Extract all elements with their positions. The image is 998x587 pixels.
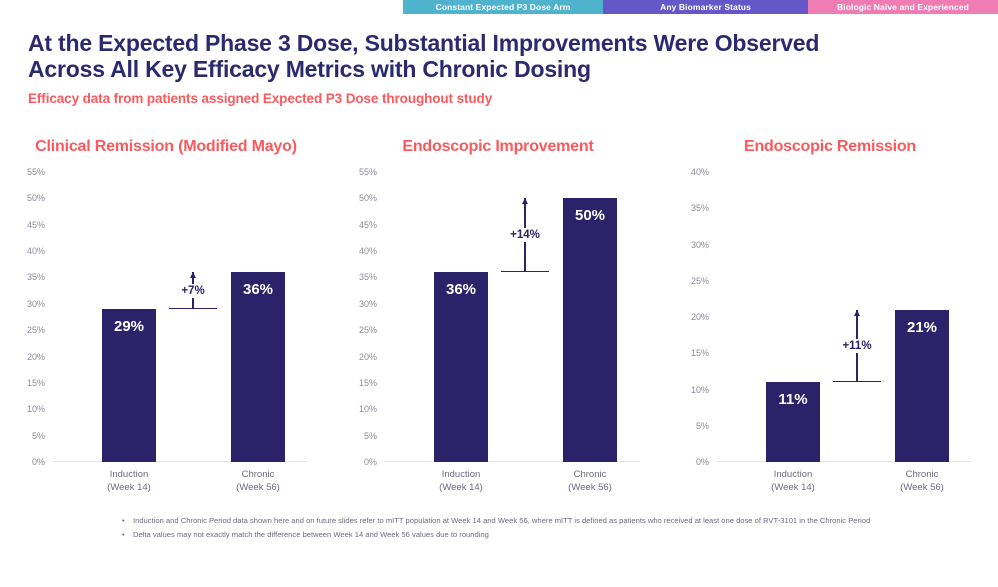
page-title-line-2: Across All Key Efficacy Metrics with Chr… [28,56,958,82]
footnote-text: Induction and Chronic Period data shown … [133,515,870,527]
y-axis-tick-label: 20% [691,312,709,322]
delta-indicator: +14% [485,198,565,272]
y-axis-tick-label: 25% [691,276,709,286]
delta-indicator: +11% [817,310,897,383]
bar: 36% [231,272,285,462]
y-axis-tick-label: 40% [27,246,45,256]
y-axis-tick-label: 15% [27,378,45,388]
x-axis-category-line: (Week 14) [69,481,189,494]
y-axis-tick-label: 50% [27,193,45,203]
bar: 50% [563,198,617,462]
chart-panel-2: Endoscopic Improvement0%5%10%15%20%25%30… [332,132,664,502]
bar: 11% [766,382,820,462]
arrow-up-icon [522,198,528,204]
banner-segment-biologic-status: Biologic Naïve and Experienced [808,0,998,14]
banner-segment-dose-arm: Constant Expected P3 Dose Arm [403,0,603,14]
plot-area: 0%5%10%15%20%25%30%35%40%45%50%55%29%Ind… [52,172,308,462]
delta-value-label: +14% [507,228,543,242]
bar-value-label: 11% [766,391,820,408]
y-axis-tick-label: 20% [27,352,45,362]
bar-value-label: 36% [231,281,285,298]
y-axis-tick-label: 5% [364,431,377,441]
y-axis-tick-label: 35% [691,203,709,213]
y-axis-tick-label: 30% [27,299,45,309]
delta-indicator: +7% [153,272,233,309]
plot-area: 0%5%10%15%20%25%30%35%40%11%Induction(We… [716,172,972,462]
page-subtitle: Efficacy data from patients assigned Exp… [28,91,958,106]
bar-value-label: 36% [434,281,488,298]
bar: 21% [895,310,949,462]
bar-value-label: 29% [102,318,156,335]
chart-title: Endoscopic Improvement [332,138,664,156]
footnotes-block: • Induction and Chronic Period data show… [122,515,972,543]
bar-value-label: 21% [895,319,949,336]
y-axis-tick-label: 25% [27,325,45,335]
plot-area: 0%5%10%15%20%25%30%35%40%45%50%55%36%Ind… [384,172,640,462]
x-axis-category-label: Chronic(Week 56) [862,468,982,494]
bar-value-label: 50% [563,207,617,224]
x-axis-category-line: (Week 14) [733,481,853,494]
header-banner: Constant Expected P3 Dose Arm Any Biomar… [0,0,998,14]
charts-row: Clinical Remission (Modified Mayo)0%5%10… [0,132,998,502]
y-axis-tick-label: 30% [691,240,709,250]
y-axis-tick-label: 40% [359,246,377,256]
y-axis-tick-label: 15% [691,348,709,358]
x-axis-category-line: (Week 56) [862,481,982,494]
banner-segment-biomarker-status: Any Biomarker Status [603,0,808,14]
y-axis-tick-label: 45% [359,220,377,230]
delta-baseline-tick [501,271,549,273]
y-axis-tick-label: 5% [32,431,45,441]
chart-panel-3: Endoscopic Remission0%5%10%15%20%25%30%3… [664,132,996,502]
delta-value-label: +7% [178,284,207,298]
x-axis-category-label: Induction(Week 14) [69,468,189,494]
bar: 29% [102,309,156,462]
y-axis-tick-label: 5% [696,421,709,431]
arrow-up-icon [854,310,860,316]
banner-segment-label: Biologic Naïve and Experienced [837,2,969,12]
y-axis-tick-label: 30% [359,299,377,309]
y-axis-tick-label: 20% [359,352,377,362]
headline-block: At the Expected Phase 3 Dose, Substantia… [28,30,958,106]
x-axis-category-label: Induction(Week 14) [733,468,853,494]
y-axis-tick-label: 45% [27,220,45,230]
footnote-text: Delta values may not exactly match the d… [133,529,489,541]
y-axis-tick-label: 55% [359,167,377,177]
y-axis-tick-label: 55% [27,167,45,177]
y-axis-tick-label: 0% [364,457,377,467]
footnote-item: • Induction and Chronic Period data show… [122,515,972,527]
y-axis-tick-label: 0% [32,457,45,467]
y-axis-tick-label: 25% [359,325,377,335]
footnote-item: • Delta values may not exactly match the… [122,529,972,541]
y-axis-tick-label: 10% [27,404,45,414]
chart-panel-1: Clinical Remission (Modified Mayo)0%5%10… [0,132,332,502]
y-axis-tick-label: 50% [359,193,377,203]
footnote-bullet-icon: • [122,529,133,541]
x-axis-category-line: Chronic [198,468,318,481]
y-axis-tick-label: 35% [359,272,377,282]
banner-segment-label: Constant Expected P3 Dose Arm [436,2,571,12]
x-axis-category-line: (Week 56) [530,481,650,494]
bar: 36% [434,272,488,462]
x-axis-category-line: Chronic [530,468,650,481]
x-axis-category-line: Induction [69,468,189,481]
x-axis-category-line: (Week 14) [401,481,521,494]
y-axis-tick-label: 40% [691,167,709,177]
arrow-up-icon [190,272,196,278]
x-axis-category-line: (Week 56) [198,481,318,494]
delta-baseline-tick [833,381,881,383]
y-axis-tick-label: 35% [27,272,45,282]
y-axis-tick-label: 10% [691,385,709,395]
chart-title: Endoscopic Remission [664,138,996,156]
banner-segment-label: Any Biomarker Status [660,2,751,12]
x-axis-category-label: Induction(Week 14) [401,468,521,494]
y-axis-tick-label: 15% [359,378,377,388]
footnote-bullet-icon: • [122,515,133,527]
x-axis-category-line: Chronic [862,468,982,481]
page-title-line-1: At the Expected Phase 3 Dose, Substantia… [28,30,958,56]
delta-baseline-tick [169,308,217,310]
y-axis-tick-label: 10% [359,404,377,414]
delta-value-label: +11% [839,339,874,353]
x-axis-category-label: Chronic(Week 56) [530,468,650,494]
x-axis-category-line: Induction [401,468,521,481]
y-axis-tick-label: 0% [696,457,709,467]
chart-title: Clinical Remission (Modified Mayo) [0,138,332,156]
x-axis-category-label: Chronic(Week 56) [198,468,318,494]
x-axis-category-line: Induction [733,468,853,481]
